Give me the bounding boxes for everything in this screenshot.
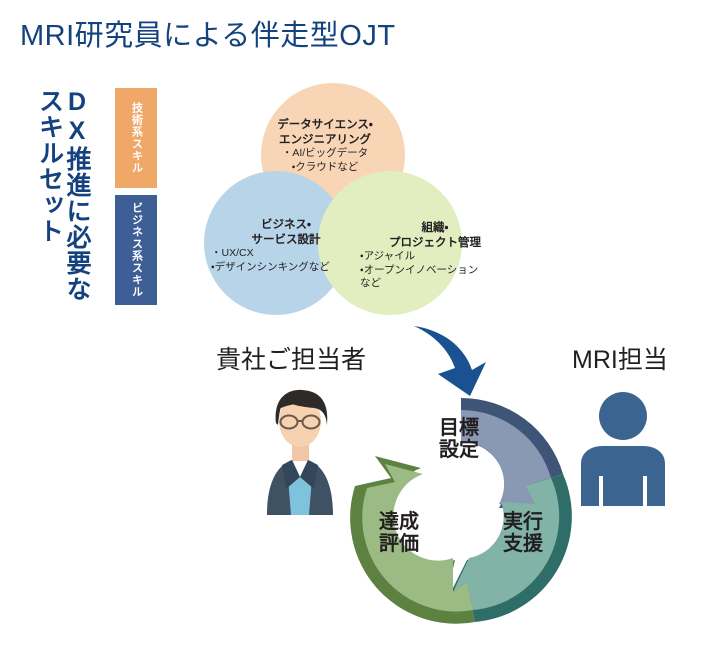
page-title: MRI研究員による伴走型OJT: [20, 12, 396, 54]
curved-down-arrow-icon: [408, 318, 500, 398]
skill-box-technical: 技術系スキル: [115, 88, 157, 188]
person-silhouette-icon: [575, 390, 671, 506]
skill-box-business: ビジネス系スキル: [115, 195, 157, 305]
skill-box-technical-label: 技術系スキル: [131, 102, 142, 174]
skillset-heading: DX推進に必要な スキルセット: [36, 88, 89, 302]
role-label-client: 貴社ご担当者: [216, 340, 366, 376]
avatar-client: [251, 385, 349, 515]
skillset-heading-line2: スキルセット: [36, 88, 62, 244]
skillset-heading-line1: DX推進に必要な: [64, 88, 90, 302]
cycle-segment-evaluation: [350, 456, 475, 624]
venn-diagram: [198, 82, 468, 318]
venn-circle-organization: [318, 171, 462, 315]
skill-box-business-label: ビジネス系スキル: [131, 202, 142, 298]
role-label-mri: MRI担当: [572, 340, 668, 376]
pdca-cycle-diagram: [349, 392, 573, 630]
